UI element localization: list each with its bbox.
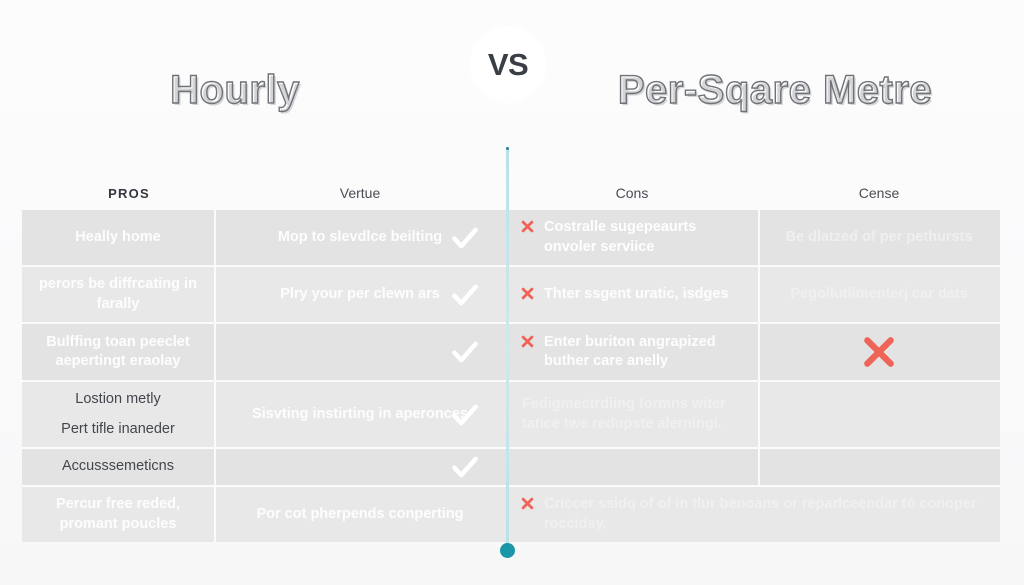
comparison-infographic: Hourly Per-Sqare Metre VS PROS Vertue Co… [0, 0, 1024, 585]
cell-cons-text: Enter buriton angrapized buther care ane… [544, 333, 744, 372]
cell-vertue-text: Plry your per clewn ars [280, 285, 440, 305]
check-icon [450, 400, 480, 430]
x-icon [520, 219, 535, 234]
cell-cons-text: Criccer ssidq of of in tlur benoans or r… [544, 495, 986, 534]
cell-vertue [214, 449, 506, 485]
cell-cons: Enter buriton angrapized buther care ane… [506, 324, 758, 380]
center-divider [506, 148, 509, 548]
cell-pros: Lostion metly Pert tifle inaneder [22, 382, 214, 447]
cell-pros: Accusssemeticns [22, 449, 214, 485]
check-icon [450, 223, 480, 253]
cell-vertue: Mop to slevdlce beilting [214, 210, 506, 265]
cell-vertue-text: Por cot pherpends conperting [256, 505, 463, 525]
cell-cons-text: Costralle sugepeaurts onvoler serviice [544, 218, 744, 257]
cell-vertue: Plry your per clewn ars [214, 267, 506, 322]
table-row[interactable]: perors be diffrcating in farally Plry yo… [22, 267, 1000, 324]
cell-pros-text-line1: Lostion metly [75, 390, 160, 410]
cell-pros-text: Heally home [75, 228, 160, 248]
divider-dot-icon [500, 543, 515, 558]
cell-vertue: Sisvting instirting in aperonces [214, 382, 506, 447]
page-title-right: Per-Sqare Metre [540, 68, 1010, 113]
table-row[interactable]: Heally home Mop to slevdlce beilting Cos… [22, 210, 1000, 267]
cell-pros-text: Bulffing toan peeclet aepertingt eraolay [36, 333, 200, 372]
cell-cons: Fedigmectrdling formns witer tatice twe … [506, 382, 758, 447]
column-header-cense: Cense [758, 176, 1000, 210]
cell-cense: Be dlatzed of per pethursts [758, 210, 1000, 265]
cell-vertue: Por cot pherpends conperting [214, 487, 506, 542]
x-icon [520, 496, 535, 511]
cell-cons-text: Thter ssgent uratic, isdges [544, 285, 744, 305]
cell-pros-text: Percur free reded, promant poucles [36, 495, 200, 534]
cell-pros-text-line2: Pert tifle inaneder [61, 420, 175, 440]
cell-pros-text: perors be diffrcating in farally [36, 275, 200, 314]
divider-cap-top [506, 147, 509, 150]
cell-vertue-text: Mop to slevdlce beilting [278, 228, 442, 248]
page-title-left: Hourly [0, 68, 470, 113]
x-icon [520, 286, 535, 301]
cell-cense-text: Pegollutlimenterj car dats [790, 285, 967, 305]
cell-cense: Pegollutlimenterj car dats [758, 267, 1000, 322]
x-icon [520, 334, 535, 349]
cell-cons: Costralle sugepeaurts onvoler serviice [506, 210, 758, 265]
column-header-cons: Cons [506, 176, 758, 210]
table-header-row: PROS Vertue Cons Cense [22, 176, 1000, 210]
cell-cense [758, 382, 1000, 447]
table-body: Heally home Mop to slevdlce beilting Cos… [22, 210, 1000, 542]
x-icon-large [859, 332, 899, 372]
check-icon [450, 452, 480, 482]
cell-pros: Bulffing toan peeclet aepertingt eraolay [22, 324, 214, 380]
column-header-pros: PROS [22, 176, 214, 210]
check-icon [450, 280, 480, 310]
table-row[interactable]: Accusssemeticns [22, 449, 1000, 487]
check-icon [450, 337, 480, 367]
cell-cons: Criccer ssidq of of in tlur benoans or r… [506, 487, 1000, 542]
cell-vertue [214, 324, 506, 380]
table-row[interactable]: Lostion metly Pert tifle inaneder Sisvti… [22, 382, 1000, 449]
cell-pros: Percur free reded, promant poucles [22, 487, 214, 542]
cell-cons: Thter ssgent uratic, isdges [506, 267, 758, 322]
table-row[interactable]: Bulffing toan peeclet aepertingt eraolay… [22, 324, 1000, 382]
vs-badge: VS [469, 26, 547, 104]
column-header-vertue: Vertue [214, 176, 506, 210]
cell-cons [506, 449, 758, 485]
cell-cense [758, 324, 1000, 380]
cell-pros: Heally home [22, 210, 214, 265]
cell-cense [758, 449, 1000, 485]
vs-label: VS [488, 47, 528, 83]
cell-cense-text: Be dlatzed of per pethursts [786, 228, 973, 248]
table-row[interactable]: Percur free reded, promant poucles Por c… [22, 487, 1000, 542]
cell-cons-text: Fedigmectrdling formns witer tatice twe … [520, 395, 744, 434]
cell-pros-text: Accusssemeticns [62, 457, 174, 477]
cell-pros: perors be diffrcating in farally [22, 267, 214, 322]
comparison-table: PROS Vertue Cons Cense Heally home Mop t… [22, 176, 1000, 556]
cell-vertue-text: Sisvting instirting in aperonces [252, 405, 468, 425]
